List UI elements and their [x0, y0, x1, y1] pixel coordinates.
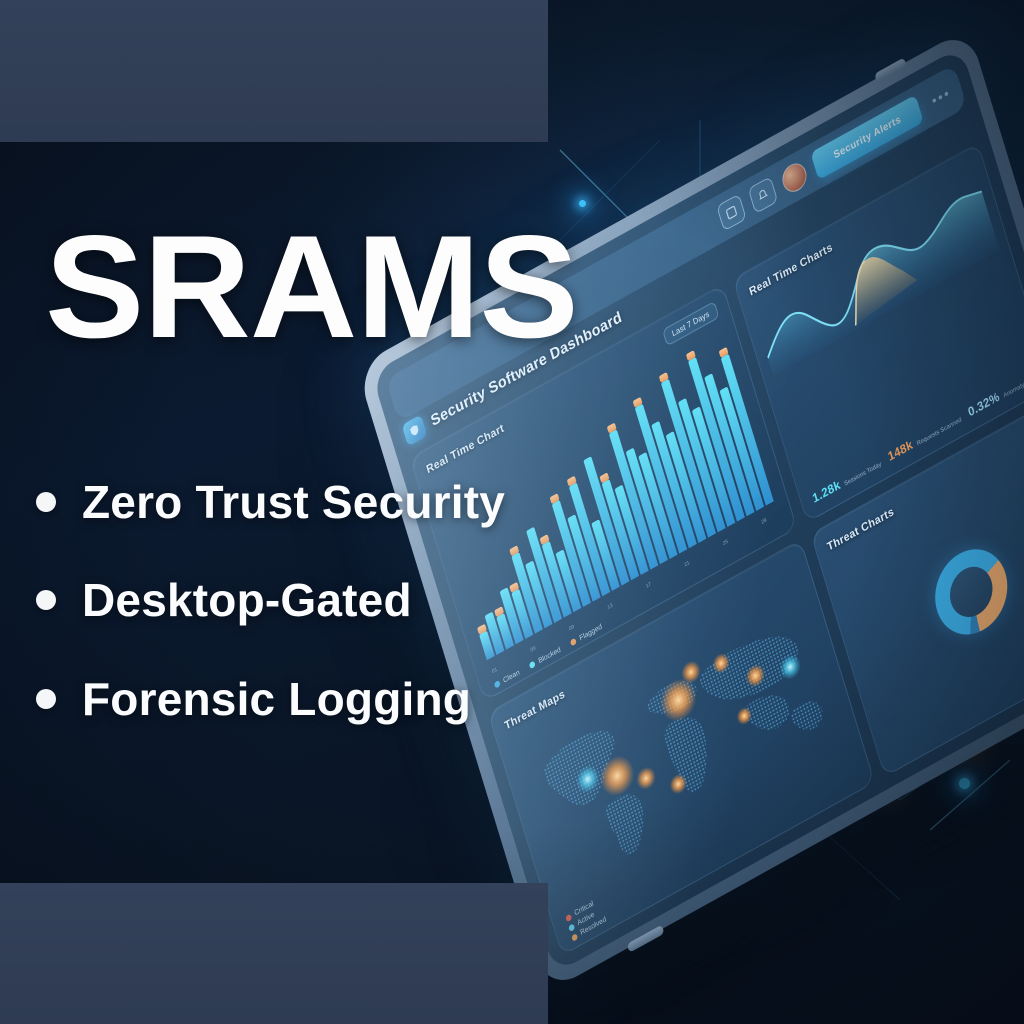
- page-title: SRAMS: [45, 220, 578, 354]
- list-item: Desktop-Gated: [36, 576, 536, 624]
- feature-label: Desktop-Gated: [82, 576, 412, 624]
- bullet-dot-icon: [36, 689, 56, 709]
- feature-list: Zero Trust Security Desktop-Gated Forens…: [36, 478, 536, 773]
- feature-label: Zero Trust Security: [82, 478, 505, 526]
- list-item: Forensic Logging: [36, 675, 536, 723]
- bullet-dot-icon: [36, 492, 56, 512]
- bullet-dot-icon: [36, 590, 56, 610]
- top-slate-band: [0, 0, 548, 142]
- list-item: Zero Trust Security: [36, 478, 536, 526]
- promo-stage: Security Alerts ••• Security Software Da…: [0, 0, 1024, 1024]
- bottom-slate-band: [0, 883, 548, 1024]
- text-column: SRAMS Zero Trust Security Desktop-Gated …: [0, 142, 548, 883]
- feature-label: Forensic Logging: [82, 675, 471, 723]
